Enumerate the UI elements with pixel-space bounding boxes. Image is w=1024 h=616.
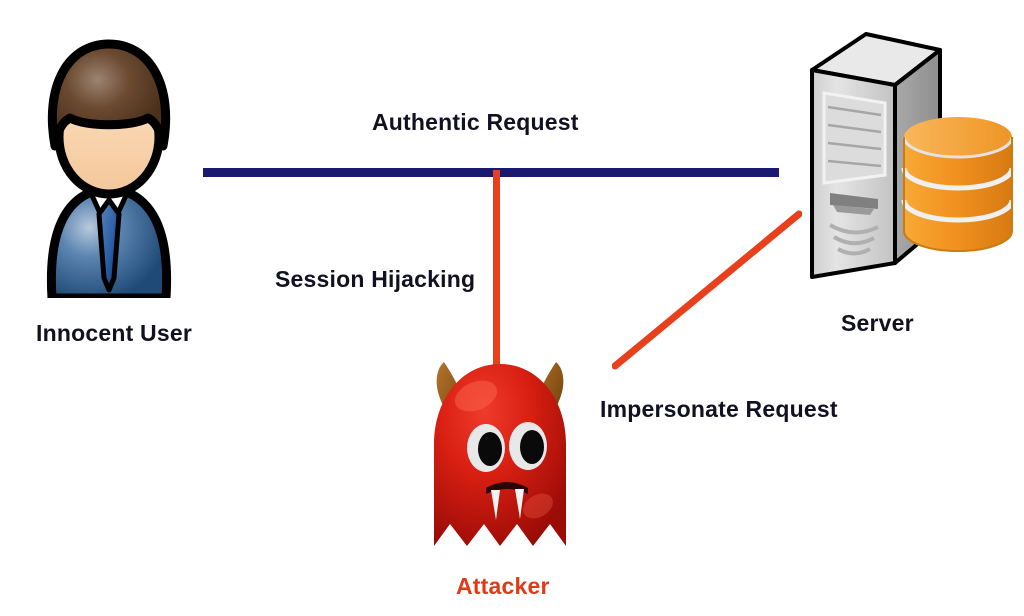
- innocent-user-label: Innocent User: [36, 320, 192, 347]
- authentic-request-line: [203, 168, 779, 177]
- session-hijacking-label: Session Hijacking: [275, 266, 475, 293]
- diagram-canvas: Authentic Request Session Hijacking Impe…: [0, 0, 1024, 616]
- impersonate-request-label: Impersonate Request: [600, 396, 838, 423]
- impersonate-request-line: [612, 210, 802, 370]
- server-label: Server: [841, 310, 914, 337]
- server-database-icon: [800, 25, 1020, 300]
- red-devil-ghost-icon: [414, 348, 586, 560]
- person-user-icon: [22, 28, 197, 298]
- session-hijacking-line: [493, 170, 500, 366]
- authentic-request-label: Authentic Request: [372, 109, 579, 136]
- attacker-label: Attacker: [456, 573, 550, 600]
